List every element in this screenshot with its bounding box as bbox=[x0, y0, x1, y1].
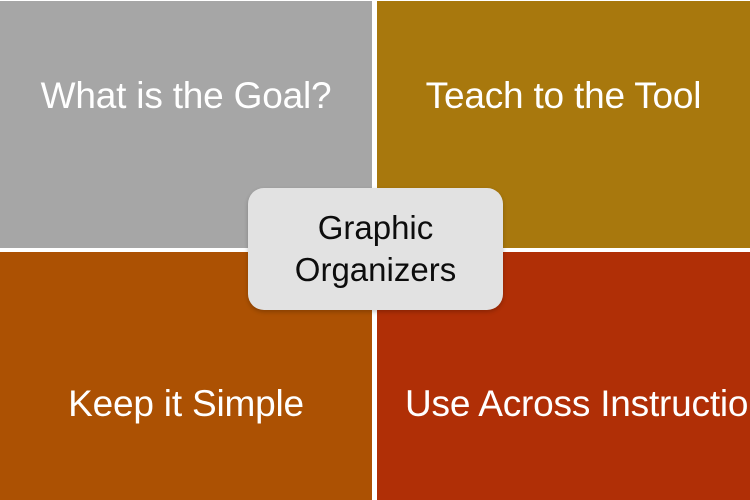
quadrant-bottom-left-label: Keep it Simple bbox=[68, 385, 304, 424]
quadrant-diagram: What is the Goal? Teach to the Tool Keep… bbox=[0, 0, 750, 500]
center-label-line-1: Graphic bbox=[318, 207, 434, 249]
quadrant-top-right-label: Teach to the Tool bbox=[426, 77, 702, 116]
quadrant-bottom-right-label: Use Across Instruction bbox=[405, 385, 750, 424]
quadrant-top-left-label: What is the Goal? bbox=[41, 77, 332, 116]
center-label-line-2: Organizers bbox=[295, 249, 456, 291]
center-callout-box[interactable]: Graphic Organizers bbox=[248, 188, 503, 310]
